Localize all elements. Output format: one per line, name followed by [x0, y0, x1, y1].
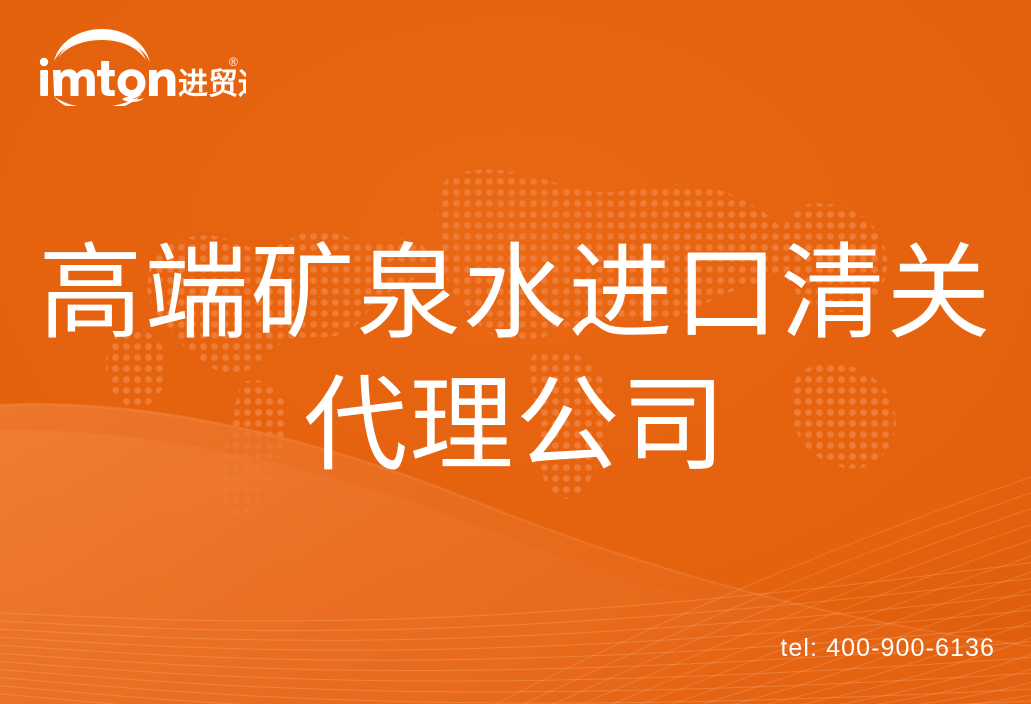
contact-phone[interactable]: tel: 400-900-6136: [780, 634, 995, 663]
globe-arc-icon: [54, 29, 150, 63]
logo-wordmark: [40, 58, 176, 97]
imton-logo[interactable]: 进贸通 ®: [36, 26, 246, 106]
headline-line-2: 代理公司: [0, 360, 1031, 492]
headline-line-1: 高端矿泉水进口清关: [0, 228, 1031, 360]
swoosh-bird-icon: [54, 94, 144, 106]
promo-banner: 进贸通 ® 高端矿泉水进口清关 代理公司 tel: 400-900-6136: [0, 0, 1031, 704]
registered-trademark-icon: ®: [229, 55, 238, 69]
logo-chinese-name: 进贸通: [178, 68, 246, 101]
page-title: 高端矿泉水进口清关 代理公司: [0, 228, 1031, 492]
